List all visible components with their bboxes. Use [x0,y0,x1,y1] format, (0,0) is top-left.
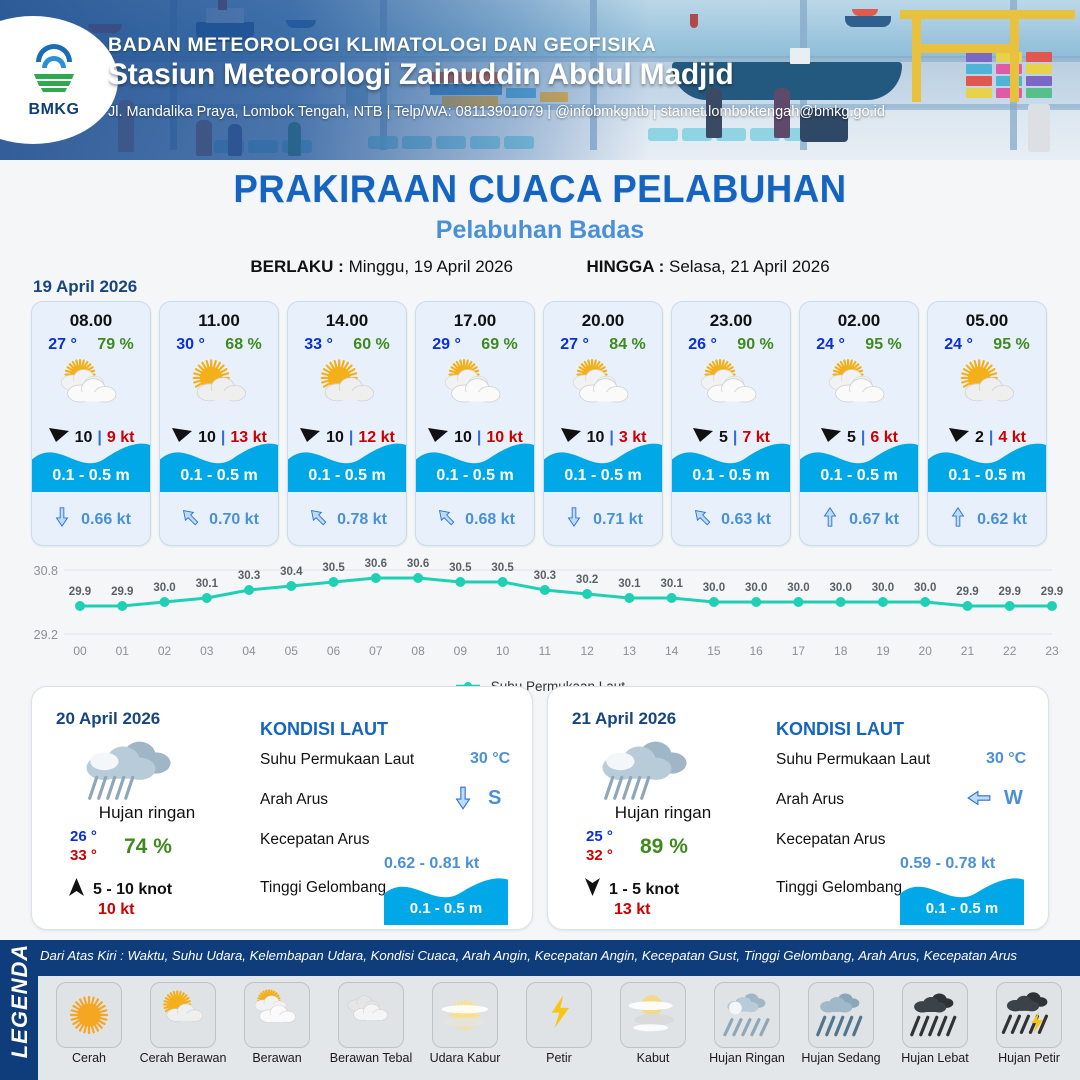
card-wave-height: 0.1 - 0.5 m [544,467,662,485]
legend-item-label: Berawan Tebal [324,1051,418,1065]
card-current-speed: 0.62 kt [977,511,1027,529]
legenda-strip: LEGENDA [0,940,38,1080]
sst-label: Suhu Permukaan Laut [776,751,930,769]
svg-text:30.6: 30.6 [365,558,387,570]
svg-text:29.9: 29.9 [999,586,1021,598]
svg-text:30.1: 30.1 [618,578,641,590]
svg-text:04: 04 [242,644,256,658]
svg-text:21: 21 [961,644,975,658]
forecast-card: 08.00 27 ° 79 % 10 | 9 kt 0.1 - 0.5 m 0.… [31,301,151,546]
svg-text:01: 01 [116,644,130,658]
svg-text:30.2: 30.2 [576,574,598,586]
panel-wind: 5 - 10 knot [68,877,172,902]
wave-height-label: Tinggi Gelombang [260,879,386,897]
card-current-speed: 0.63 kt [721,511,771,529]
svg-text:18: 18 [834,644,848,658]
card-humidity: 95 % [993,336,1029,354]
svg-text:30.3: 30.3 [238,570,260,582]
panel-wind-range: 5 - 10 knot [93,881,172,899]
bmkg-logo-icon [26,42,82,98]
arrow-up-icon [68,877,85,902]
page-header: BMKG BADAN METEOROLOGI KLIMATOLOGI DAN G… [0,0,1080,160]
card-time: 08.00 [32,311,150,331]
svg-text:30.1: 30.1 [196,578,219,590]
svg-text:07: 07 [369,644,383,658]
legend-item: Udara Kabur [418,982,512,1065]
legend-item: Kabut [606,982,700,1065]
panel-wave-height: 0.1 - 0.5 m [384,900,508,917]
card-humidity: 68 % [225,336,261,354]
berawan-icon [32,358,150,418]
legend-item-label: Hujan Petir [982,1051,1076,1065]
berawan-icon [244,982,310,1048]
svg-text:30.0: 30.0 [914,582,936,594]
svg-text:08: 08 [411,644,425,658]
valid-until-value: Selasa, 21 April 2026 [669,257,830,276]
panel-wave-chip: 0.1 - 0.5 m [900,871,1024,925]
card-current: 0.68 kt [416,506,534,533]
svg-text:19: 19 [876,644,890,658]
card-current: 0.63 kt [672,506,790,533]
card-humidity: 95 % [865,336,901,354]
sst-chart: 30.829.229.90029.90130.00230.10330.30430… [22,558,1058,683]
svg-text:30.0: 30.0 [153,582,175,594]
panel-temperatures: 26 ° 33 ° [70,827,97,865]
svg-text:13: 13 [623,644,637,658]
svg-text:05: 05 [285,644,299,658]
sea-condition-title: KONDISI LAUT [260,719,388,740]
legend-footer: LEGENDA Dari Atas Kiri : Waktu, Suhu Uda… [0,940,1080,1080]
arrow-up-left-icon [179,506,201,533]
legend-item-label: Udara Kabur [418,1051,512,1065]
card-current: 0.78 kt [288,506,406,533]
svg-text:29.9: 29.9 [956,586,978,598]
legenda-label: LEGENDA [7,939,33,1063]
svg-text:16: 16 [749,644,763,658]
card-temperature: 30 ° [176,336,205,354]
arrow-down-icon [51,506,73,533]
svg-text:30.0: 30.0 [787,582,809,594]
petir-icon [526,982,592,1048]
berawan-icon [416,358,534,418]
legend-item-label: Cerah Berawan [136,1051,230,1065]
card-humidity: 90 % [737,336,773,354]
daily-forecast-panel: 20 April 2026 Hujan ringan 26 ° 33 ° 74 … [31,686,533,930]
hujan-lebat-icon [902,982,968,1048]
panel-gust: 10 kt [98,901,134,919]
card-time: 14.00 [288,311,406,331]
cerah-berawan-icon [150,982,216,1048]
legend-item-label: Cerah [42,1051,136,1065]
card-current: 0.62 kt [928,506,1046,533]
panel-wave-chip: 0.1 - 0.5 m [384,871,508,925]
port-name: Pelabuhan Badas [0,216,1080,245]
card-temperature: 24 ° [816,336,845,354]
card-wave-height: 0.1 - 0.5 m [288,467,406,485]
kabut-icon [620,982,686,1048]
card-temperature: 27 ° [48,336,77,354]
card-wave-height: 0.1 - 0.5 m [800,467,918,485]
card-temperature: 24 ° [944,336,973,354]
sea-condition-title: KONDISI LAUT [776,719,904,740]
svg-text:30.5: 30.5 [491,562,514,574]
card-humidity: 69 % [481,336,517,354]
agency-name: BADAN METEOROLOGI KLIMATOLOGI DAN GEOFIS… [108,34,656,57]
card-current: 0.71 kt [544,506,662,533]
forecast-card: 11.00 30 ° 68 % 10 | 13 kt 0.1 - 0.5 m 0… [159,301,279,546]
arrow-left-icon [966,785,992,816]
forecast-card: 14.00 33 ° 60 % 10 | 12 kt 0.1 - 0.5 m 0… [287,301,407,546]
card-wave-height: 0.1 - 0.5 m [32,467,150,485]
card-time: 20.00 [544,311,662,331]
card-time: 23.00 [672,311,790,331]
svg-text:03: 03 [200,644,214,658]
card-temperature: 27 ° [560,336,589,354]
forecast-card: 20.00 27 ° 84 % 10 | 3 kt 0.1 - 0.5 m 0.… [543,301,663,546]
svg-text:30.4: 30.4 [280,566,303,578]
panel-temp-min: 25 ° [586,827,613,846]
udara-kabur-icon [432,982,498,1048]
svg-text:00: 00 [73,644,87,658]
current-speed-label: Kecepatan Arus [776,831,885,849]
forecast-card: 02.00 24 ° 95 % 5 | 6 kt 0.1 - 0.5 m 0.6… [799,301,919,546]
arrow-up-left-icon [435,506,457,533]
svg-text:20: 20 [919,644,933,658]
svg-text:22: 22 [1003,644,1017,658]
svg-text:30.0: 30.0 [703,582,725,594]
legend-item-label: Hujan Sedang [794,1051,888,1065]
card-current-speed: 0.66 kt [81,511,131,529]
svg-text:30.0: 30.0 [745,582,767,594]
svg-text:29.9: 29.9 [1041,586,1063,598]
arrow-down-icon [563,506,585,533]
hujan-ringan-icon [714,982,780,1048]
validity-row: BERLAKU : Minggu, 19 April 2026 HINGGA :… [0,257,1080,277]
svg-text:30.5: 30.5 [322,562,345,574]
card-humidity: 60 % [353,336,389,354]
panel-wind: 1 - 5 knot [584,877,679,902]
cerah-berawan-icon [928,358,1046,418]
card-time: 11.00 [160,311,278,331]
legend-item: Hujan Ringan [700,982,794,1065]
legend-item: Hujan Sedang [794,982,888,1065]
svg-text:30.0: 30.0 [830,582,852,594]
station-name: Stasiun Meteorologi Zainuddin Abdul Madj… [108,58,733,92]
card-temperature: 33 ° [304,336,333,354]
svg-text:30.1: 30.1 [660,578,683,590]
legend-item: Berawan Tebal [324,982,418,1065]
forecast-card: 23.00 26 ° 90 % 5 | 7 kt 0.1 - 0.5 m 0.6… [671,301,791,546]
svg-text:29.9: 29.9 [69,586,91,598]
forecast-card: 17.00 29 ° 69 % 10 | 10 kt 0.1 - 0.5 m 0… [415,301,535,546]
current-direction-label: Arah Arus [776,791,844,809]
sst-value: 30 °C [986,750,1026,768]
hujan-sedang-icon [808,982,874,1048]
panel-temperatures: 25 ° 32 ° [586,827,613,865]
svg-text:30.8: 30.8 [34,564,58,578]
title-block: PRAKIRAAN CUACA PELABUHAN Pelabuhan Bada… [0,168,1080,277]
card-humidity: 84 % [609,336,645,354]
panel-humidity: 89 % [640,835,688,859]
svg-text:30.3: 30.3 [534,570,556,582]
panel-gust: 13 kt [614,901,650,919]
current-direction-value: S [488,787,501,810]
arrow-up-icon [819,506,841,533]
card-wave-height: 0.1 - 0.5 m [928,467,1046,485]
legend-item: Berawan [230,982,324,1065]
svg-text:15: 15 [707,644,721,658]
legend-item-label: Hujan Lebat [888,1051,982,1065]
arrow-up-left-icon [307,506,329,533]
legend-item: Cerah Berawan [136,982,230,1065]
forecast-date: 19 April 2026 [33,277,137,297]
logo-text: BMKG [29,101,80,119]
svg-text:30.5: 30.5 [449,562,472,574]
panel-wave-height: 0.1 - 0.5 m [900,900,1024,917]
card-current-speed: 0.67 kt [849,511,899,529]
legend-note: Dari Atas Kiri : Waktu, Suhu Udara, Kele… [40,948,1080,963]
berawan-icon [800,358,918,418]
card-wave-height: 0.1 - 0.5 m [160,467,278,485]
legend-item-label: Berawan [230,1051,324,1065]
contact-line: Jl. Mandalika Praya, Lombok Tengah, NTB … [108,104,885,120]
hourly-forecast-row: 08.00 27 ° 79 % 10 | 9 kt 0.1 - 0.5 m 0.… [31,301,1049,546]
daily-forecast-panel: 21 April 2026 Hujan ringan 25 ° 32 ° 89 … [547,686,1049,930]
wave-height-label: Tinggi Gelombang [776,879,902,897]
arrow-up-left-icon [691,506,713,533]
card-time: 17.00 [416,311,534,331]
card-temperature: 26 ° [688,336,717,354]
panel-date: 20 April 2026 [56,709,160,729]
arrow-down-icon [584,877,601,902]
card-wave-height: 0.1 - 0.5 m [416,467,534,485]
card-time: 02.00 [800,311,918,331]
card-current: 0.67 kt [800,506,918,533]
valid-from-label: BERLAKU : [250,257,344,276]
card-current: 0.66 kt [32,506,150,533]
svg-text:30.0: 30.0 [872,582,894,594]
svg-text:17: 17 [792,644,806,658]
card-current: 0.70 kt [160,506,278,533]
legend-item: Hujan Lebat [888,982,982,1065]
current-direction-value: W [1004,787,1023,810]
legend-item-label: Petir [512,1051,606,1065]
arrow-up-icon [947,506,969,533]
daily-forecast-row: 20 April 2026 Hujan ringan 26 ° 33 ° 74 … [31,686,1049,930]
arrow-down-icon [450,785,476,816]
forecast-card: 05.00 24 ° 95 % 2 | 4 kt 0.1 - 0.5 m 0.6… [927,301,1047,546]
card-current-speed: 0.78 kt [337,511,387,529]
card-time: 05.00 [928,311,1046,331]
svg-text:23: 23 [1045,644,1059,658]
page-title: PRAKIRAAN CUACA PELABUHAN [32,168,1047,212]
valid-from-value: Minggu, 19 April 2026 [349,257,513,276]
svg-text:30.6: 30.6 [407,558,429,570]
svg-text:14: 14 [665,644,679,658]
valid-until-label: HINGGA : [586,257,664,276]
sst-label: Suhu Permukaan Laut [260,751,414,769]
card-temperature: 29 ° [432,336,461,354]
panel-temp-max: 32 ° [586,846,613,865]
svg-text:10: 10 [496,644,510,658]
card-current-speed: 0.68 kt [465,511,515,529]
berawan-icon [672,358,790,418]
card-current-speed: 0.71 kt [593,511,643,529]
card-humidity: 79 % [97,336,133,354]
svg-text:09: 09 [454,644,468,658]
legend-item-label: Hujan Ringan [700,1051,794,1065]
legend-icon-panel: Cerah Cerah Berawan Berawan Berawa [38,976,1080,1080]
card-wave-height: 0.1 - 0.5 m [672,467,790,485]
panel-temp-max: 33 ° [70,846,97,865]
panel-humidity: 74 % [124,835,172,859]
svg-text:06: 06 [327,644,341,658]
panel-condition: Hujan ringan [32,803,262,823]
svg-text:29.2: 29.2 [34,628,58,642]
berawan-icon [544,358,662,418]
cerah-berawan-icon [160,358,278,418]
svg-text:11: 11 [539,644,552,658]
panel-wind-range: 1 - 5 knot [609,881,679,899]
current-direction-label: Arah Arus [260,791,328,809]
svg-text:02: 02 [158,644,172,658]
legend-item: Petir [512,982,606,1065]
panel-condition: Hujan ringan [548,803,778,823]
cerah-berawan-icon [288,358,406,418]
cerah-icon [56,982,122,1048]
card-current-speed: 0.70 kt [209,511,259,529]
legend-item: Cerah [42,982,136,1065]
berawan-tebal-icon [338,982,404,1048]
panel-temp-min: 26 ° [70,827,97,846]
legend-item-label: Kabut [606,1051,700,1065]
panel-date: 21 April 2026 [572,709,676,729]
sst-value: 30 °C [470,750,510,768]
current-speed-label: Kecepatan Arus [260,831,369,849]
legend-item: Hujan Petir [982,982,1076,1065]
svg-text:29.9: 29.9 [111,586,133,598]
svg-text:12: 12 [580,644,594,658]
hujan-petir-icon [996,982,1062,1048]
